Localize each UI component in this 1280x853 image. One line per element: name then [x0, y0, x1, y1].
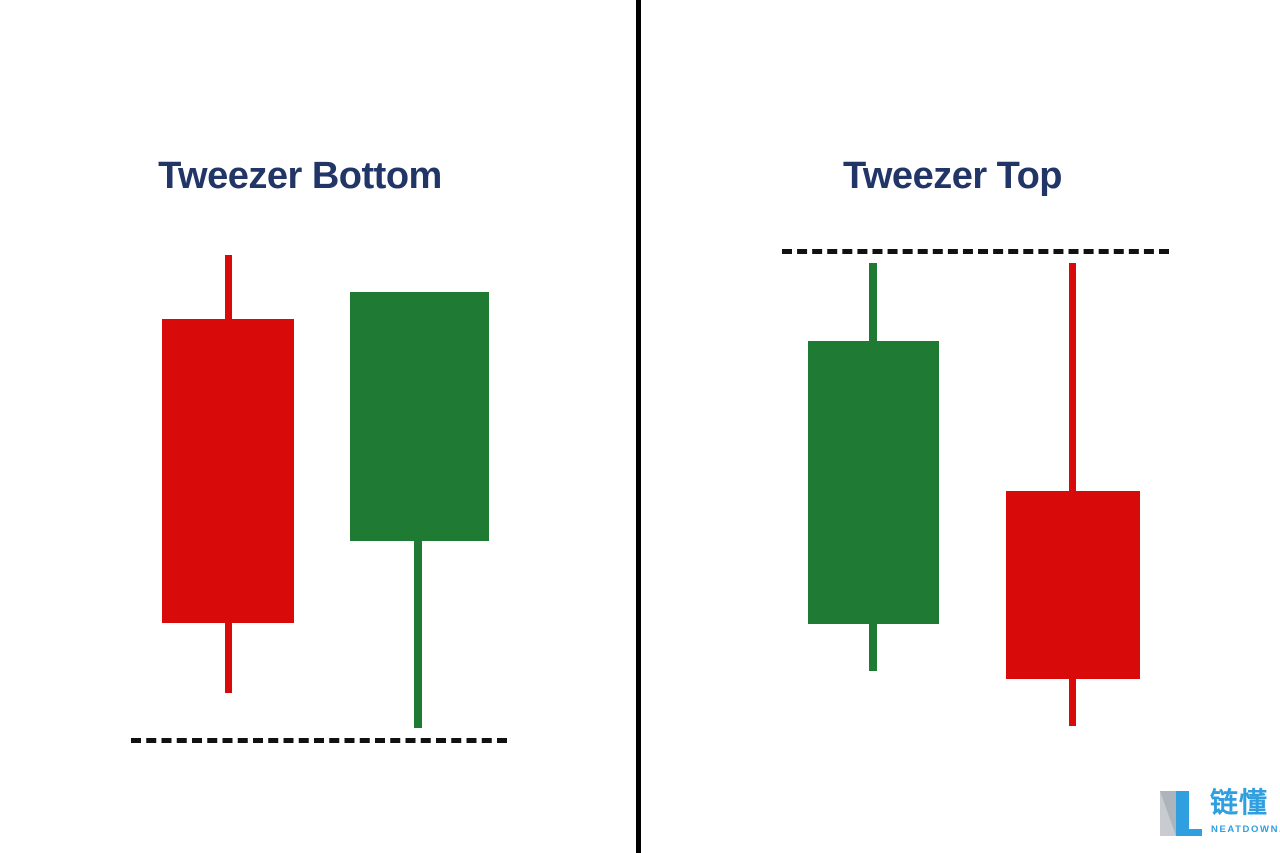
resistance-level-line [782, 249, 1169, 254]
candle-wick-upper-bullish-1 [869, 263, 877, 343]
candle-wick-lower-bearish-1 [225, 621, 232, 693]
candle-wick-lower-bearish-2 [1069, 677, 1076, 726]
candle-body-bullish-1 [808, 341, 939, 624]
logo-l-mark-icon [1158, 789, 1204, 837]
brand-logo: 链懂 NEATDOWN.COM [1158, 787, 1276, 845]
figure-canvas: Tweezer Bottom Tweezer Top [0, 0, 1280, 853]
brand-name-cn: 链懂 [1210, 788, 1268, 818]
candle-wick-lower-bullish-1 [869, 622, 877, 671]
candle-wick-lower-bullish-2 [414, 539, 422, 728]
candle-wick-upper-bearish-1 [225, 255, 232, 321]
panel-title-tweezer-top: Tweezer Top [633, 155, 1272, 198]
panel-tweezer-top: Tweezer Top [641, 0, 1280, 853]
panel-tweezer-bottom: Tweezer Bottom [0, 0, 636, 853]
support-level-line [131, 738, 507, 743]
candle-body-bearish-2 [1006, 491, 1140, 679]
panel-title-tweezer-bottom: Tweezer Bottom [0, 155, 618, 198]
candle-wick-upper-bearish-2 [1069, 263, 1076, 494]
brand-domain: NEATDOWN.COM [1211, 824, 1280, 835]
candle-body-bearish-1 [162, 319, 294, 623]
candle-body-bullish-2 [350, 292, 489, 541]
